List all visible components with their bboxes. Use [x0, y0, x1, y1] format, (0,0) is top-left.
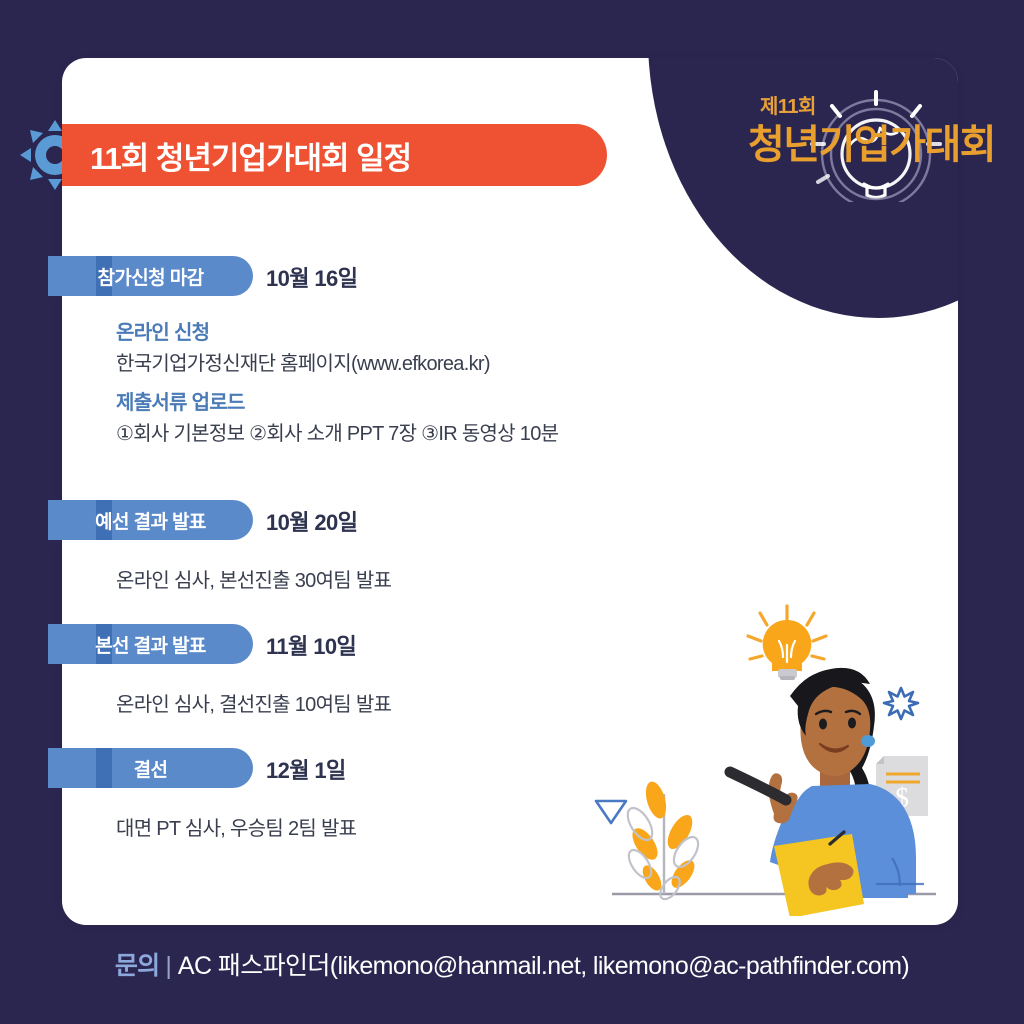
detail-body: ①회사 기본정보 ②회사 소개 PPT 7장 ③IR 동영상 10분 — [116, 417, 700, 446]
schedule-date: 10월 20일 — [266, 505, 357, 537]
detail-description: 온라인 심사, 본선진출 30여팀 발표 — [116, 564, 700, 593]
sparkle-icon — [884, 688, 918, 719]
poster-canvas: 제11회 청년기업가대회 11회 청년기업가대회 일정 — [0, 0, 1024, 1024]
footer-contact: 문의|AC 패스파인더(likemono@hanmail.net, likemo… — [0, 946, 1024, 982]
pill-fold-shape — [48, 538, 64, 554]
triangle-decoration-icon — [596, 801, 626, 823]
footer-contact-text: AC 패스파인더(likemono@hanmail.net, likemono@… — [178, 952, 909, 980]
schedule-label-row: 예선 결과 발표 10월 20일 — [0, 500, 700, 542]
schedule-date: 10월 16일 — [266, 261, 357, 293]
lightbulb-icon — [748, 606, 826, 680]
schedule-label-text: 예선 결과 발표 — [95, 507, 206, 534]
schedule-label-text: 본선 결과 발표 — [95, 631, 206, 658]
schedule-label-pill: 예선 결과 발표 — [48, 500, 253, 540]
footer-separator: | — [165, 952, 172, 980]
schedule-item-preliminary-result: 예선 결과 발표 10월 20일 온라인 심사, 본선진출 30여팀 발표 — [0, 500, 700, 593]
schedule-details: 온라인 신청 한국기업가정신재단 홈페이지(www.efkorea.kr) 제출… — [0, 316, 700, 446]
schedule-item-application-deadline: 참가신청 마감 10월 16일 온라인 신청 한국기업가정신재단 홈페이지(ww… — [0, 256, 700, 456]
pill-fold-shape — [48, 294, 64, 310]
schedule-label-pill: 참가신청 마감 — [48, 256, 253, 296]
detail-subheading: 온라인 신청 — [116, 316, 700, 345]
detail-subheading: 제출서류 업로드 — [116, 386, 700, 415]
detail-body: 한국기업가정신재단 홈페이지(www.efkorea.kr) — [116, 347, 700, 376]
schedule-date: 12월 1일 — [266, 753, 346, 785]
schedule-label-pill: 결선 — [48, 748, 253, 788]
pill-fold-shape — [48, 786, 64, 802]
illustration-woman-with-clipboard: $ — [576, 596, 948, 916]
pill-left-cap — [96, 748, 112, 788]
plant-illustration — [623, 779, 703, 902]
schedule-label-pill: 본선 결과 발표 — [48, 624, 253, 664]
schedule-date: 11월 10일 — [266, 629, 356, 661]
schedule-label-row: 참가신청 마감 10월 16일 — [0, 256, 700, 298]
pill-fold-shape — [48, 662, 64, 678]
schedule-label-text: 결선 — [134, 755, 168, 782]
schedule-label-text: 참가신청 마감 — [98, 263, 204, 290]
footer-label: 문의 — [115, 952, 160, 980]
